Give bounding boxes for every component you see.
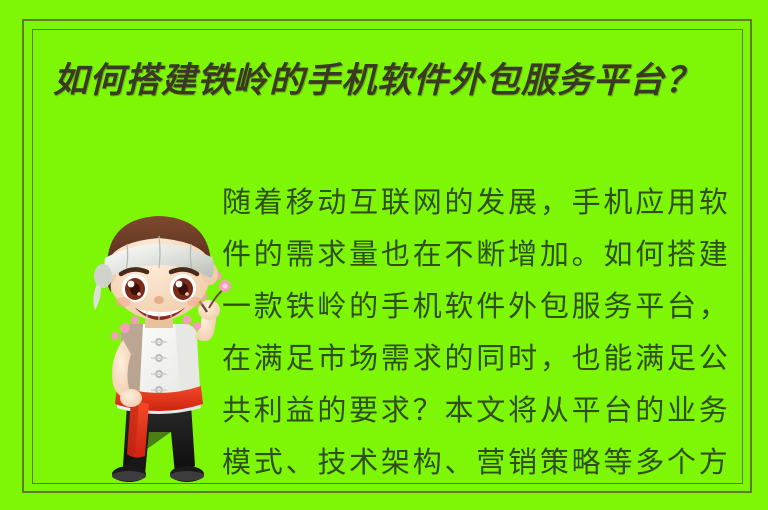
article-card: 如何搭建铁岭的手机软件外包服务平台？ xyxy=(33,30,742,483)
mascot-cheek-left xyxy=(115,297,131,307)
mascot-headband-knot xyxy=(94,264,112,288)
mascot-cheek-right xyxy=(187,297,203,307)
page-title: 如何搭建铁岭的手机软件外包服务平台？ xyxy=(53,57,742,105)
mascot-ground-shadow xyxy=(97,481,221,483)
article-body-text: 随着移动互联网的发展，手机应用软件的需求量也在不断增加。如何搭建一款铁岭的手机软… xyxy=(222,176,730,483)
mascot-illustration xyxy=(75,208,243,483)
mascot-nose xyxy=(154,296,164,304)
